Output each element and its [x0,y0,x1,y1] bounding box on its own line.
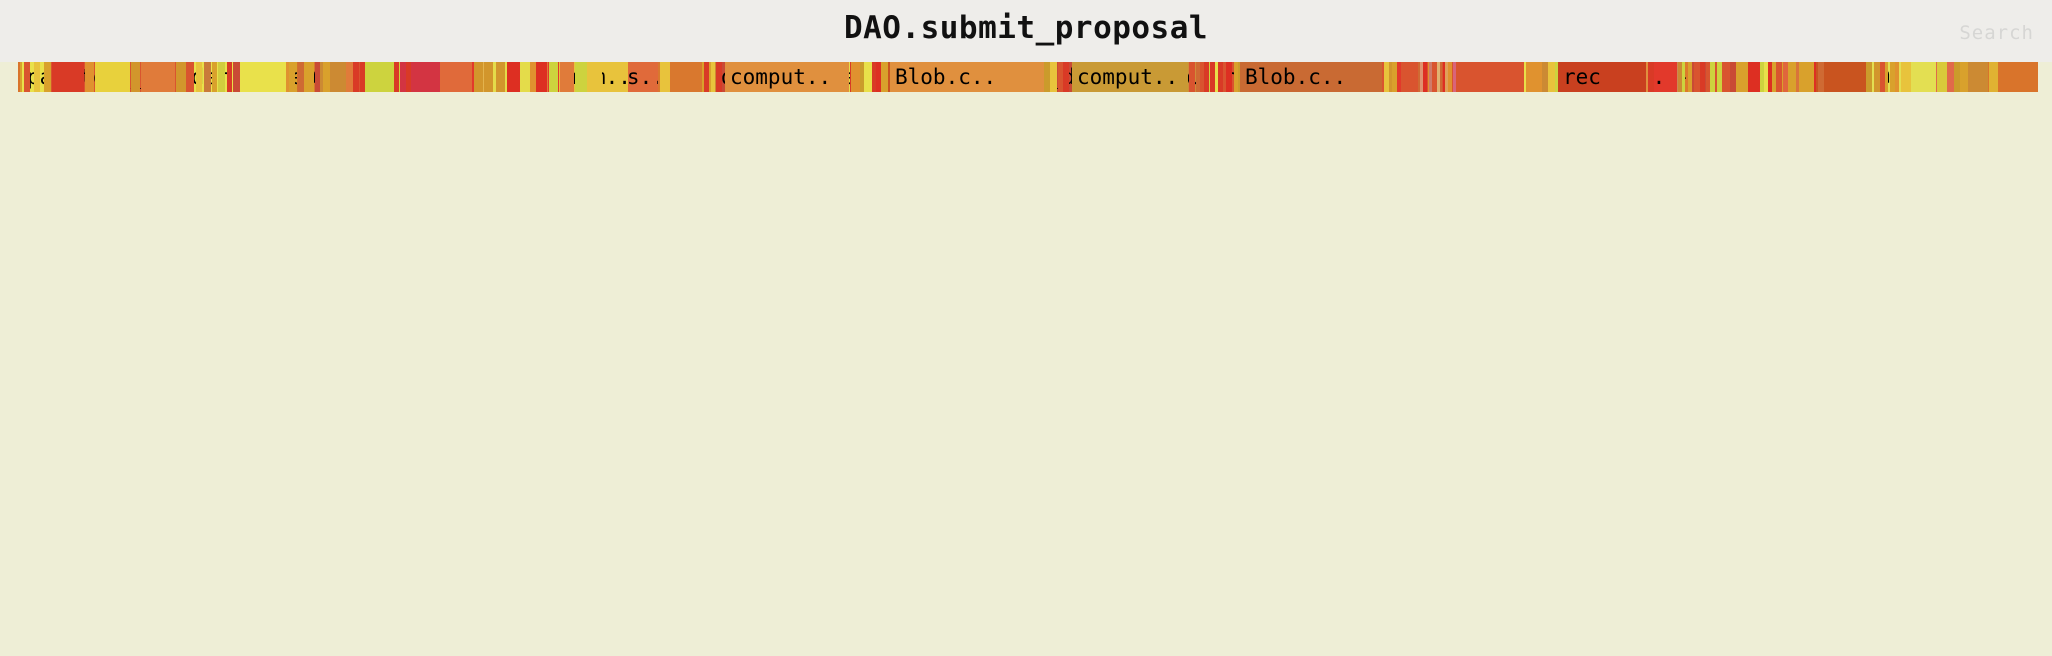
flame-frame[interactable] [1700,62,1705,92]
flame-frame[interactable] [704,62,709,92]
flame-frame[interactable] [1526,62,1536,92]
flame-frame[interactable] [1776,62,1782,92]
flame-frame[interactable] [1392,62,1397,92]
flame-frame[interactable] [876,62,881,92]
flame-frame[interactable] [1880,62,1885,92]
flame-frame[interactable] [575,62,587,92]
flame-frame-label: comput.. [1077,65,1178,89]
flame-frame[interactable] [864,62,872,92]
flame-frame[interactable] [212,62,217,92]
flame-frame-blob-c[interactable]: Blob.c.. [1240,62,1382,92]
flame-frame[interactable] [141,62,175,92]
flame-frame-label: Blob.c.. [895,65,996,89]
flame-frame[interactable] [1678,62,1682,92]
flame-frame[interactable] [442,62,472,92]
flame-frame[interactable] [360,62,365,92]
page-title: DAO.submit_proposal [0,10,2052,46]
flame-frame[interactable] [95,62,130,92]
flame-frame[interactable] [370,62,380,92]
flame-frame[interactable] [1710,62,1715,92]
flame-frame[interactable] [24,62,30,92]
flame-frame[interactable] [1445,62,1448,92]
flame-frame[interactable] [1890,62,1895,92]
flame-frame[interactable] [1453,62,1456,92]
flame-frame[interactable] [204,62,211,92]
flame-frame[interactable] [1937,62,1947,92]
flamegraph-canvas[interactable]: submit_proposal@deserialize<r(canister_i… [0,62,2052,656]
flame-frame[interactable] [1423,62,1427,92]
flame-frame[interactable] [286,62,289,92]
flame-frame[interactable] [1989,62,1998,92]
flame-frame[interactable] [176,62,186,92]
flame-frame-label: Blob.c.. [1245,65,1346,89]
flame-frame[interactable] [1429,62,1432,92]
flame-frame[interactable] [1960,62,1968,92]
flame-frame[interactable] [1736,62,1744,92]
flame-frame-label: rec [1563,65,1601,89]
header-bar: DAO.submit_proposal Search [0,0,2052,62]
flamegraph-app: DAO.submit_proposal Search submit_propos… [0,0,2052,656]
flame-frame-blob-c[interactable]: Blob.c.. [890,62,1044,92]
flame-frame[interactable] [1901,62,1911,92]
flame-frame[interactable] [1226,62,1232,92]
flame-frame[interactable] [227,62,232,92]
flame-frame[interactable] [218,62,225,92]
flame-frame[interactable] [1189,62,1195,92]
flame-frame[interactable] [406,62,411,92]
flame-frame-rec[interactable]: rec [1558,62,1646,92]
flame-frame[interactable] [496,62,505,92]
flame-frame[interactable] [530,62,536,92]
flame-frame[interactable] [1808,62,1866,92]
flame-frame[interactable] [1404,62,1409,92]
search-input[interactable]: Search [1959,22,2034,44]
flame-frame[interactable] [1796,62,1799,92]
flame-frame-label: comput.. [730,65,831,89]
flame-frame[interactable] [394,62,399,92]
flame-frame[interactable] [1204,62,1209,92]
flame-frame[interactable] [1536,62,1542,92]
flame-frame[interactable] [474,62,483,92]
flame-frame[interactable] [353,62,359,92]
flame-frame[interactable] [52,62,84,92]
flame-frame[interactable] [594,62,602,92]
flame-frame-comput[interactable]: comput.. [725,62,849,92]
flame-frame[interactable] [660,62,670,92]
flame-frame[interactable] [1437,62,1440,92]
flame-frame[interactable] [1448,62,1452,92]
flame-frame[interactable] [323,62,330,92]
flame-frame[interactable] [196,62,202,92]
flame-frame[interactable] [1783,62,1788,92]
flame-frame[interactable] [883,62,888,92]
flame-frame[interactable] [1717,62,1722,92]
flame-frame[interactable] [44,62,51,92]
flame-frame[interactable] [718,62,722,92]
flame-frame[interactable] [560,62,574,92]
flame-frame[interactable] [1420,62,1423,92]
flame-frame[interactable] [1548,62,1555,92]
flame-frame[interactable] [855,62,860,92]
flame-frame[interactable] [233,62,240,92]
flame-frame[interactable] [1818,62,1824,92]
flame-frame[interactable] [1648,62,1654,92]
flame-frame[interactable] [1384,62,1389,92]
flame-frame[interactable] [484,62,493,92]
flame-frame[interactable] [1210,62,1215,92]
flame-frame[interactable] [298,62,303,92]
flame-frame[interactable] [290,62,295,92]
flame-frame[interactable] [304,62,308,92]
flame-frame-comput[interactable]: comput.. [1072,62,1188,92]
flame-frame[interactable] [1234,62,1238,92]
flame-frame[interactable] [1218,62,1223,92]
flame-frame[interactable] [711,62,715,92]
flame-frame[interactable] [34,62,40,92]
flame-frame[interactable] [85,62,94,92]
flame-frame[interactable] [549,62,558,92]
flame-frame[interactable] [1063,62,1069,92]
flame-frame[interactable] [131,62,140,92]
